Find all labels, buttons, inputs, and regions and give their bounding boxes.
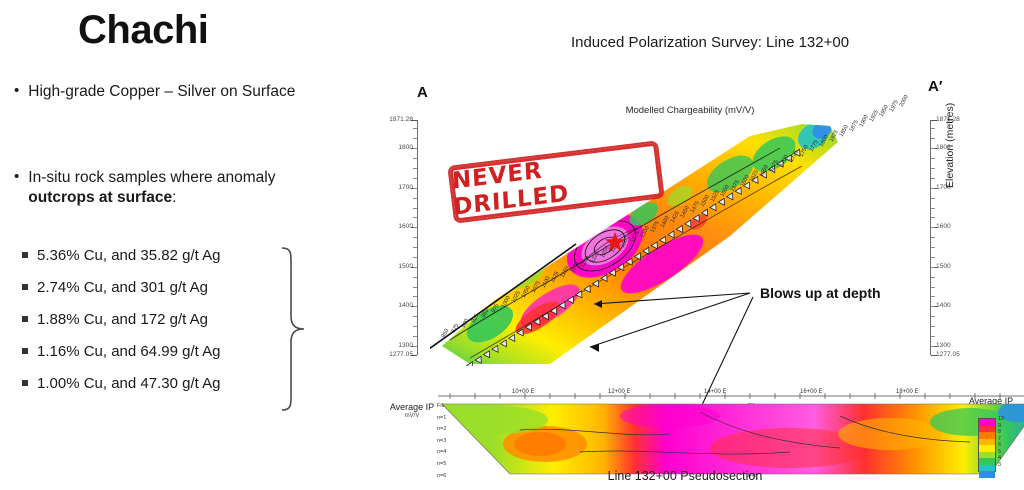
elevation-tick-label: 1600 (936, 223, 951, 230)
colorbar-labels: 129876543 (998, 416, 1004, 468)
elevation-minor-tick (413, 188, 417, 189)
bullet-item-2: • In-situ rock samples where anomaly out… (14, 168, 304, 208)
elevation-minor-tick (413, 178, 417, 179)
elevation-minor-tick (931, 128, 935, 129)
elevation-tick-label: 1500 (380, 263, 413, 270)
assay-value: 1.88% Cu, and 172 g/t Ag (37, 312, 208, 327)
elevation-tick-label: 1700 (380, 184, 413, 191)
elevation-axis-left (417, 120, 418, 355)
square-bullet-icon (22, 284, 28, 290)
slide-root: Chachi • High-grade Copper – Silver on S… (0, 0, 1024, 490)
bullet-item-1: • High-grade Copper – Silver on Surface (14, 82, 319, 102)
elevation-minor-tick (413, 227, 417, 228)
section-end-label-a-prime: A′ (928, 78, 942, 95)
square-bullet-icon (22, 380, 28, 386)
figure-title: Induced Polarization Survey: Line 132+00 (520, 34, 900, 51)
bullet-dot-icon: • (14, 82, 19, 101)
blows-up-annotation: Blows up at depth (760, 285, 881, 301)
elevation-tick-label: 1400 (380, 302, 413, 309)
square-bullet-icon (22, 348, 28, 354)
colorbar-tick-label: 12 (998, 416, 1004, 423)
elevation-minor-tick (931, 138, 935, 139)
section-end-label-a: A (417, 84, 428, 101)
square-bullet-icon (22, 316, 28, 322)
colorbar (978, 418, 996, 472)
colorbar-tick-label: 3 (998, 462, 1004, 469)
elevation-minor-tick (413, 148, 417, 149)
elevation-minor-tick (413, 128, 417, 129)
elevation-minor-tick (931, 158, 935, 159)
square-bullet-icon (22, 252, 28, 258)
pseudosection-colour-fill (430, 400, 1024, 480)
assay-value: 2.74% Cu, and 301 g/t Ag (37, 280, 208, 295)
bullet-item-1-label: High-grade Copper – Silver on Surface (28, 82, 295, 102)
elevation-minor-tick (931, 148, 935, 149)
bullet-item-2-tail: : (172, 189, 176, 206)
elevation-tick-label: 1600 (380, 223, 413, 230)
elevation-minor-tick (413, 138, 417, 139)
elevation-minor-tick (413, 217, 417, 218)
elevation-tick-label: 1800 (380, 144, 413, 151)
assay-value: 5.36% Cu, and 35.82 g/t Ag (37, 248, 220, 263)
elevation-minor-tick (413, 277, 417, 278)
pseudosection-caption: Line 132+00 Pseudosection (560, 469, 810, 483)
elevation-minor-tick (413, 247, 417, 248)
elevation-minor-tick (931, 247, 935, 248)
list-item: 1.00% Cu, and 47.30 g/t Ag (22, 376, 322, 408)
list-item: 2.74% Cu, and 301 g/t Ag (22, 280, 322, 312)
elevation-minor-tick (413, 296, 417, 297)
elevation-minor-tick (931, 188, 935, 189)
elevation-minor-tick (413, 208, 417, 209)
elevation-minor-tick (413, 336, 417, 337)
assay-list: 5.36% Cu, and 35.82 g/t Ag 2.74% Cu, and… (22, 248, 322, 408)
elevation-minor-tick (931, 178, 935, 179)
star-icon (604, 231, 626, 253)
elevation-minor-tick (931, 237, 935, 238)
list-item: 1.88% Cu, and 172 g/t Ag (22, 312, 322, 344)
elevation-minor-tick (413, 287, 417, 288)
elevation-minor-tick (931, 217, 935, 218)
elevation-minor-tick (413, 158, 417, 159)
list-item: 5.36% Cu, and 35.82 g/t Ag (22, 248, 322, 280)
elevation-minor-tick (931, 168, 935, 169)
elevation-minor-tick (413, 346, 417, 347)
elevation-minor-tick (931, 198, 935, 199)
elevation-axis-title: Elevation (metres) (944, 103, 956, 188)
colorbar-band (979, 471, 995, 478)
page-title: Chachi (78, 8, 208, 53)
elevation-minor-tick (931, 227, 935, 228)
elevation-minor-tick (413, 168, 417, 169)
curly-brace-icon (278, 246, 318, 412)
elevation-minor-tick (413, 257, 417, 258)
elevation-minor-tick (931, 208, 935, 209)
elevation-minor-tick (413, 326, 417, 327)
list-item: 1.16% Cu, and 64.99 g/t Ag (22, 344, 322, 376)
elevation-minor-tick (413, 267, 417, 268)
elevation-minor-tick (413, 198, 417, 199)
bullet-item-2-emphasis: outcrops at surface (28, 189, 172, 206)
elevation-tick-label: 1300 (380, 342, 413, 349)
bullet-item-2-lead: In-situ rock samples where anomaly (28, 169, 275, 186)
elevation-minor-tick (413, 316, 417, 317)
elevation-tick-label: 1871.28 (380, 116, 413, 123)
left-text-column: Chachi • High-grade Copper – Silver on S… (0, 0, 360, 490)
bullet-item-2-label: In-situ rock samples where anomaly outcr… (28, 168, 304, 208)
bullet-dot-icon: • (14, 168, 19, 187)
assay-value: 1.16% Cu, and 64.99 g/t Ag (37, 344, 220, 359)
elevation-minor-tick (413, 237, 417, 238)
elevation-minor-tick (413, 306, 417, 307)
assay-value: 1.00% Cu, and 47.30 g/t Ag (37, 376, 220, 391)
elevation-tick-label: 1277.05 (380, 351, 413, 358)
